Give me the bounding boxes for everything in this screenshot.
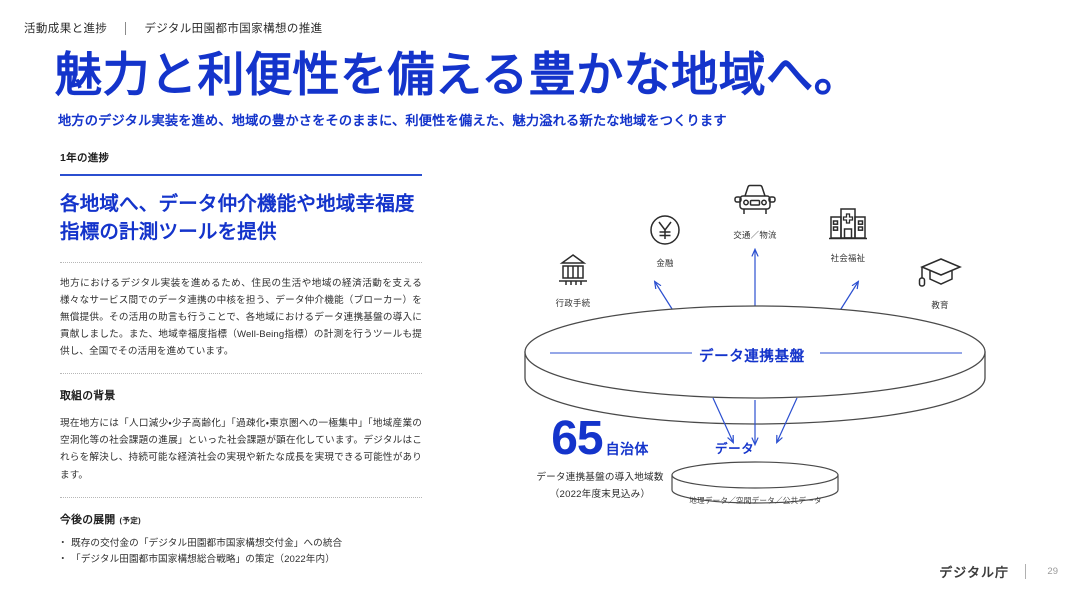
future-bullet-list: 既存の交付金の「デジタル田園都市国家構想交付金」への統合 「デジタル田園都市国家… (60, 536, 422, 569)
service-node-gov: 行政手続 (525, 238, 621, 309)
service-node-education: 教育 (892, 240, 988, 311)
progress-kicker: 1年の進捗 (60, 150, 422, 165)
future-heading: 今後の展開(予定) (60, 511, 422, 527)
stat-value-line: 65 自治体 (505, 415, 695, 463)
page-subtitle: 地方のデジタル実装を進め、地域の豊かさをそのままに、利便性を備えた、魅力溢れる新… (58, 110, 727, 129)
breadcrumb-divider (125, 22, 126, 35)
service-node-transport: 交通／物流 (707, 170, 803, 241)
data-caption: 地理データ／空間データ／公共データ (673, 495, 838, 506)
stat-unit: 自治体 (606, 439, 649, 459)
divider-dotted-3 (60, 497, 422, 498)
service-node-label: 金融 (617, 257, 713, 269)
footer-brand: デジタル庁 (939, 562, 1009, 581)
platform-label: データ連携基盤 (699, 345, 805, 366)
background-body: 現在地方には「人口減少・少子高齢化」「過疎化・東京圏への一極集中」「地域産業の空… (60, 415, 422, 483)
service-node-welfare: 社会福祉 (800, 193, 896, 264)
stat-caption: データ連携基盤の導入地域数 (505, 469, 695, 483)
stat-note: （2022年度末見込み） (505, 486, 695, 500)
page-title: 魅力と利便性を備える豊かな地域へ。 (55, 48, 861, 102)
background-heading: 取組の背景 (60, 387, 422, 403)
future-heading-note: (予定) (119, 516, 140, 525)
service-node-label: 教育 (892, 299, 988, 311)
section-body: 地方におけるデジタル実装を進めるため、住民の生活や地域の経済活動を支える様々なサ… (60, 275, 422, 360)
slide-canvas: 活動成果と進捗 デジタル田園都市国家構想の推進 魅力と利便性を備える豊かな地域へ… (0, 0, 1080, 603)
divider-solid-blue (60, 174, 422, 176)
list-item: 「デジタル田園都市国家構想総合戦略」の策定（2022年内） (60, 552, 422, 569)
footer-divider (1025, 564, 1026, 579)
divider-dotted-2 (60, 373, 422, 374)
car-icon (707, 170, 803, 222)
stat-block: 65 自治体 データ連携基盤の導入地域数 （2022年度末見込み） (505, 415, 695, 500)
government-building-icon (525, 238, 621, 290)
service-node-label: 行政手続 (525, 297, 621, 309)
yen-circle-icon (617, 198, 713, 250)
list-item: 既存の交付金の「デジタル田園都市国家構想交付金」への統合 (60, 536, 422, 553)
breadcrumb-topic: デジタル田園都市国家構想の推進 (144, 20, 322, 36)
breadcrumb-section: 活動成果と進捗 (24, 20, 107, 36)
left-content-column: 1年の進捗 各地域へ、データ仲介機能や地域幸福度指標の計測ツールを提供 地方にお… (60, 150, 422, 569)
service-node-label: 交通／物流 (707, 229, 803, 241)
service-node-label: 社会福祉 (800, 252, 896, 264)
data-label: データ (715, 438, 754, 457)
section-heading: 各地域へ、データ仲介機能や地域幸福度指標の計測ツールを提供 (60, 190, 422, 247)
divider-dotted-1 (60, 262, 422, 263)
graduation-cap-icon (892, 240, 988, 292)
stat-value: 65 (551, 415, 602, 463)
page-number: 29 (1042, 566, 1058, 577)
future-heading-text: 今後の展開 (60, 514, 115, 526)
breadcrumb: 活動成果と進捗 デジタル田園都市国家構想の推進 (24, 20, 323, 36)
service-node-finance: 金融 (617, 198, 713, 269)
hospital-icon (800, 193, 896, 245)
footer: デジタル庁 29 (939, 562, 1058, 581)
